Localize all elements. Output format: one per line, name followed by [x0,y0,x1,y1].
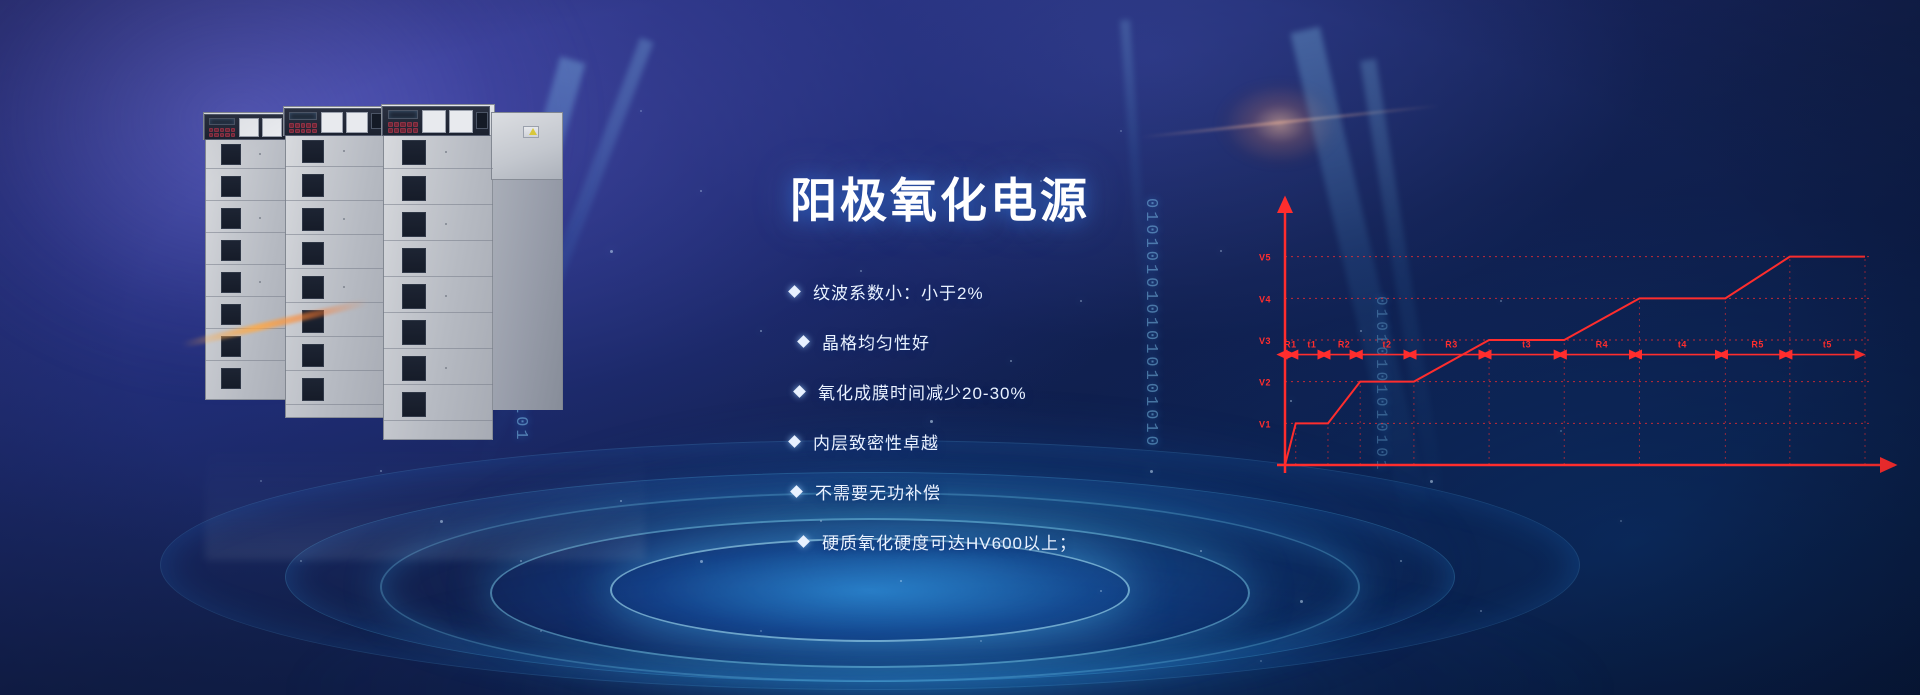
cabinet-middle [285,134,389,418]
chart-y-tick-label: V2 [1259,378,1271,388]
voltage-ramp-chart: V1V2V3V4V5R1t1R2t2R3t3R4t4R5t5 [1255,190,1895,490]
particle [1620,520,1622,522]
background-glow-bottom [300,560,1600,695]
particle [620,500,622,502]
particle [540,630,542,632]
particle [900,580,902,582]
particle [1100,590,1102,592]
chart-segment-label: R5 [1751,340,1764,350]
chart-segment-label: R3 [1445,340,1458,350]
particle [1480,610,1482,612]
particle [520,560,522,562]
chart-segment-label: R2 [1338,340,1351,350]
chart-y-tick-label: V4 [1259,294,1271,304]
particle [1260,660,1262,662]
particle [700,190,702,192]
particle [1120,130,1122,132]
cabinet-right [383,134,493,440]
equipment-reflection [205,440,645,560]
list-item-label: 纹波系数小：小于2% [813,279,984,304]
particle [760,330,762,332]
particle [380,470,382,472]
particle [980,640,982,642]
chart-segment-label: t2 [1383,340,1392,350]
particle [300,560,302,562]
particle [760,630,762,632]
particle [640,110,642,112]
diamond-bullet-icon [797,535,810,548]
particle [610,250,613,253]
lens-flare-streak [1141,104,1440,138]
chart-segment-label: t1 [1307,340,1316,350]
chart-y-tick-label: V5 [1259,253,1271,263]
chart-segment-label: R4 [1596,340,1609,350]
chart-segment-label: R1 [1284,340,1297,350]
diamond-bullet-icon [790,485,803,498]
diamond-bullet-icon [788,285,801,298]
particle [700,560,703,563]
list-item-label: 内层致密性卓越 [813,429,939,454]
chart-segment-label: t4 [1678,340,1687,350]
diamond-bullet-icon [788,435,801,448]
equipment-image [205,100,585,440]
list-item-label: 晶格均匀性好 [822,329,930,354]
particle [260,480,262,482]
list-item-label: 硬质氧化硬度可达HV600以上； [822,529,1077,554]
diamond-bullet-icon [797,335,810,348]
chart-y-tick-label: V3 [1259,336,1271,346]
chart-canvas: V1V2V3V4V5R1t1R2t2R3t3R4t4R5t5 [1255,190,1895,490]
diamond-bullet-icon [793,385,806,398]
list-item-label: 不需要无功补偿 [815,479,941,504]
warning-label-icon [523,126,539,138]
banner-stage: 010101010101010101 0101010101010101010 0… [0,0,1920,695]
particle [440,520,443,523]
particle [1300,600,1303,603]
chart-segment-label: t3 [1522,340,1531,350]
chart-segment-label: t5 [1823,340,1832,350]
list-item: 硬质氧化硬度可达HV600以上； [799,517,1430,567]
list-item-label: 氧化成膜时间减少20-30% [818,379,1027,404]
chart-y-tick-label: V1 [1259,419,1271,429]
